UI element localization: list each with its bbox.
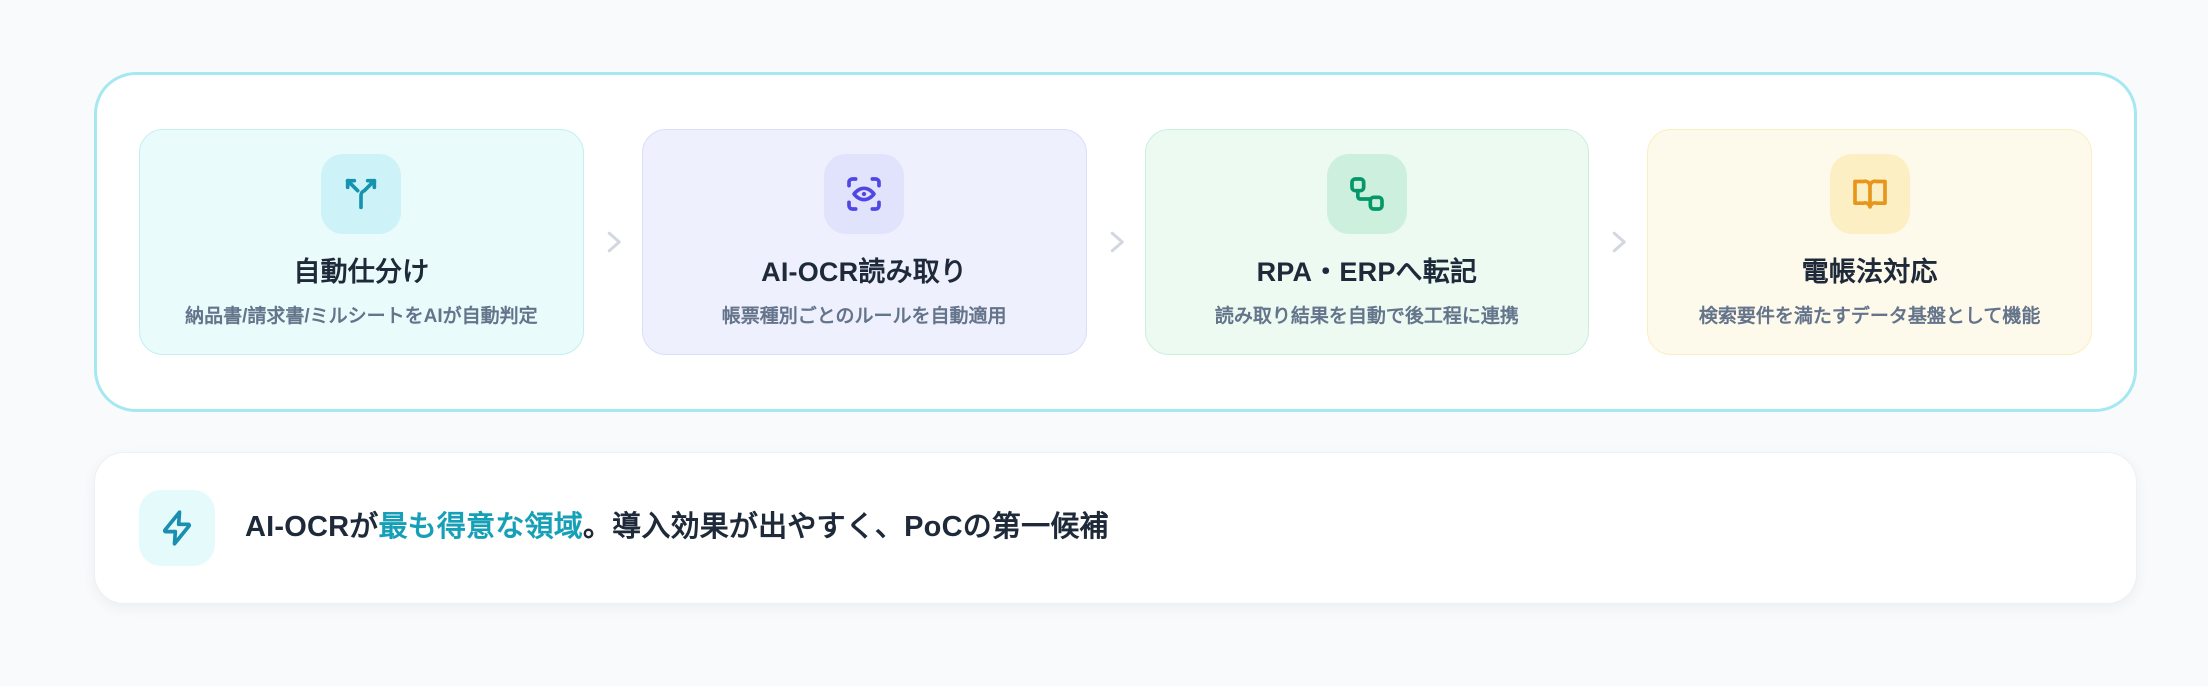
note-text-before: AI-OCRが [245, 511, 379, 543]
flow-step-title: AI-OCR読み取り [761, 256, 967, 288]
zap-icon [139, 490, 215, 566]
page-root: 自動仕分け 納品書/請求書/ミルシートをAIが自動判定 AI-OCR読み取り [0, 0, 2208, 686]
flow-step-description: 納品書/請求書/ミルシートをAIが自動判定 [185, 305, 538, 330]
note-text-after: 。導入効果が出やすく、PoCの第一候補 [583, 511, 1109, 543]
flow-step-title: 自動仕分け [293, 256, 429, 288]
scan-eye-icon [824, 154, 904, 234]
chevron-right-icon [1087, 227, 1145, 257]
flow-step-description: 検索要件を満たすデータ基盤として機能 [1699, 305, 2040, 330]
open-book-icon [1830, 154, 1910, 234]
chevron-right-icon [584, 227, 642, 257]
chevron-right-icon [1589, 227, 1647, 257]
flow-step-description: 読み取り結果を自動で後工程に連携 [1215, 305, 1519, 330]
flow-step-card-3[interactable]: RPA・ERPへ転記 読み取り結果を自動で後工程に連携 [1145, 129, 1590, 355]
flow-step-description: 帳票種別ごとのルールを自動適用 [722, 305, 1007, 330]
note-text-highlight: 最も得意な領域 [379, 511, 583, 543]
flow-step-card-4[interactable]: 電帳法対応 検索要件を満たすデータ基盤として機能 [1647, 129, 2092, 355]
flow-step-title: RPA・ERPへ転記 [1257, 256, 1478, 288]
flow-step-title: 電帳法対応 [1802, 256, 1938, 288]
highlight-note-banner: AI-OCRが最も得意な領域。導入効果が出やすく、PoCの第一候補 [94, 452, 2137, 604]
workflow-nodes-icon [1327, 154, 1407, 234]
flow-step-card-1[interactable]: 自動仕分け 納品書/請求書/ミルシートをAIが自動判定 [139, 129, 584, 355]
highlight-note-text: AI-OCRが最も得意な領域。導入効果が出やすく、PoCの第一候補 [245, 509, 1109, 547]
process-flow-panel: 自動仕分け 納品書/請求書/ミルシートをAIが自動判定 AI-OCR読み取り [94, 72, 2137, 412]
flow-step-card-2[interactable]: AI-OCR読み取り 帳票種別ごとのルールを自動適用 [642, 129, 1087, 355]
split-arrows-icon [321, 154, 401, 234]
